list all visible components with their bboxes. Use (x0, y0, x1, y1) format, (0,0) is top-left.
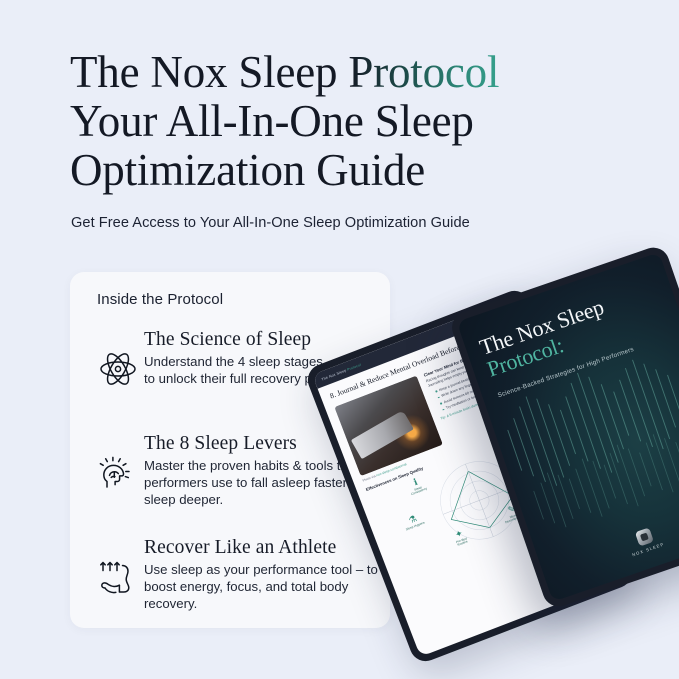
feature-item-sleep-levers: The 8 Sleep Levers Master the proven hab… (92, 431, 392, 527)
feature-text: Recover Like an Athlete Use sleep as you… (144, 535, 392, 612)
cover-title-line-2: Protocol: (484, 332, 567, 381)
list-item: Try meditation or breathing to calm your… (442, 370, 541, 412)
feature-list: The Science of Sleep Understand the 4 sl… (92, 327, 392, 639)
cover-title: The Nox Sleep Protocol: (477, 276, 673, 382)
soundwave-graphic (482, 325, 679, 568)
radar-node-label: Sleep Hygiene (405, 520, 425, 531)
ebook-column-right: Clear Your Mind for Better Sleep Racing … (423, 334, 557, 458)
ebook-section-heading: Clear Your Mind for Better Sleep (423, 334, 527, 378)
feature-description: Master the proven habits & tools that to… (144, 457, 392, 508)
inside-the-protocol-card: Inside the Protocol The Science of Sleep… (70, 272, 390, 628)
ebook-paragraph: Racing thoughts can keep you awake, or w… (425, 340, 530, 388)
page-title: The Nox Sleep Protocol Your All-In-One S… (70, 48, 630, 195)
cover-logo: NOX SLEEP (540, 495, 679, 586)
headline-line-3: Optimization Guide (70, 145, 425, 195)
cover-subtitle: Science-Backed Strategies for High Perfo… (497, 330, 679, 399)
headline-line-2: Your All-In-One Sleep (70, 96, 474, 146)
atom-icon (92, 327, 144, 389)
headline-plain-text: The Nox Sleep (70, 47, 348, 97)
radar-node: ℹ Sleep Consistency (404, 474, 431, 498)
feature-item-science-of-sleep: The Science of Sleep Understand the 4 sl… (92, 327, 392, 423)
sleep-quality-radar-chart: ℹ Sleep Consistency ⚗ Sleep Hygiene ✦ Pr… (368, 422, 593, 585)
list-item: Keep a journal beside your bed (435, 352, 534, 394)
feature-text: The Science of Sleep Understand the 4 sl… (144, 327, 392, 387)
ebook-bullet-list: Keep a journal beside your bed Write dow… (435, 352, 541, 412)
nox-sleep-logo-icon (634, 528, 653, 547)
card-title: Inside the Protocol (97, 291, 223, 308)
sleep-hygiene-icon: ⚗ (401, 511, 425, 527)
list-item: Avoid screens 60 minutes before bed (439, 364, 538, 406)
headline-accent-text: Protocol (348, 47, 499, 97)
feature-title: The 8 Sleep Levers (144, 433, 392, 456)
ebook-tip: Tip: A 5-minute brain dump lowers bedtim… (440, 378, 544, 422)
pre-bed-routine-icon: ✦ (447, 526, 471, 542)
list-item: Write down any lingering thoughts before… (437, 358, 536, 400)
brain-head-icon (92, 431, 144, 493)
radar-node-label: Mental Decompression (505, 512, 527, 524)
feature-description: Use sleep as your performance tool – to … (144, 561, 392, 612)
feature-item-recover-like-athlete: Recover Like an Athlete Use sleep as you… (92, 535, 392, 631)
feature-description: Understand the 4 sleep stages – and how … (144, 353, 392, 387)
tablet-front-screen: The Nox Sleep Protocol: Science-Backed S… (457, 252, 679, 602)
feature-title: Recover Like an Athlete (144, 537, 392, 560)
tablet-front-cover: The Nox Sleep Protocol: Science-Backed S… (448, 243, 679, 610)
cover-title-line-1: The Nox Sleep (476, 294, 606, 360)
feature-text: The 8 Sleep Levers Master the proven hab… (144, 431, 392, 508)
radar-grid (368, 422, 593, 585)
logo-wordmark: NOX SLEEP (546, 512, 679, 586)
radar-node-label: Sleep Consistency (411, 485, 428, 496)
radar-node: ✎ Mental Decompression (500, 501, 527, 525)
radar-node: ⚗ Sleep Hygiene (401, 511, 426, 531)
headline-line-1: The Nox Sleep Protocol (70, 47, 499, 97)
sleep-consistency-icon: ℹ (404, 474, 428, 490)
flexed-bicep-icon (92, 535, 144, 597)
radar-node-label: Pre-Bed Routine (455, 536, 468, 547)
feature-title: The Science of Sleep (144, 329, 392, 352)
mental-decompression-icon: ✎ (500, 501, 524, 517)
page-subtitle: Get Free Access to Your All-In-One Sleep… (71, 215, 611, 231)
radar-node: ✦ Pre-Bed Routine (447, 526, 474, 550)
